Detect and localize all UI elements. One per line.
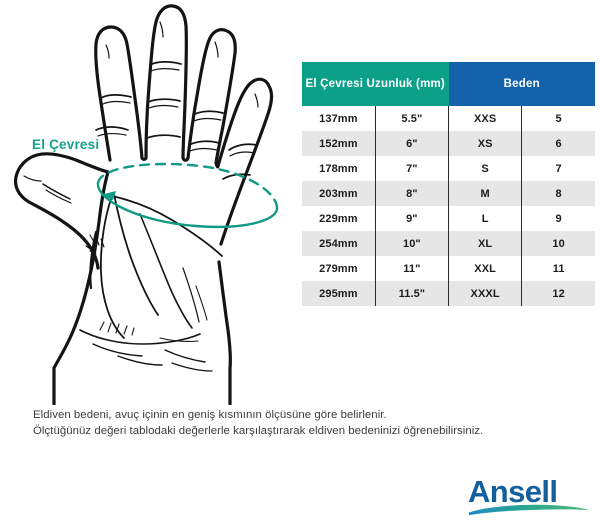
table-row: 254mm 10" XL 10 <box>302 231 595 256</box>
cell-circumference-inch: 7" <box>375 156 448 181</box>
table-row: 178mm 7" S 7 <box>302 156 595 181</box>
cell-size-number: 9 <box>522 206 595 231</box>
cell-size-number: 10 <box>522 231 595 256</box>
ansell-wordmark: Ansell <box>468 474 557 509</box>
table-row: 229mm 9" L 9 <box>302 206 595 231</box>
cell-size-number: 7 <box>522 156 595 181</box>
cell-circumference-mm: 229mm <box>302 206 375 231</box>
cell-size-letter: XL <box>449 231 522 256</box>
cell-size-letter: M <box>449 181 522 206</box>
ansell-logo: Ansell <box>466 472 594 518</box>
cell-circumference-inch: 11" <box>375 256 448 281</box>
cell-circumference-inch: 6" <box>375 131 448 156</box>
cell-size-number: 12 <box>522 281 595 306</box>
cell-circumference-mm: 279mm <box>302 256 375 281</box>
cell-size-letter: L <box>449 206 522 231</box>
cell-circumference-inch: 10" <box>375 231 448 256</box>
instructions-text: Eldiven bedeni, avuç içinin en geniş kıs… <box>33 407 573 439</box>
cell-circumference-inch: 9" <box>375 206 448 231</box>
instructions-line-2: Ölçtüğünüz değeri tablodaki değerlerle k… <box>33 423 573 439</box>
table-row: 203mm 8" M 8 <box>302 181 595 206</box>
table-row: 295mm 11.5" XXXL 12 <box>302 281 595 306</box>
cell-size-number: 8 <box>522 181 595 206</box>
cell-circumference-mm: 178mm <box>302 156 375 181</box>
cell-size-number: 11 <box>522 256 595 281</box>
cell-size-letter: XS <box>449 131 522 156</box>
cell-size-letter: XXS <box>449 106 522 131</box>
cell-circumference-mm: 254mm <box>302 231 375 256</box>
cell-circumference-inch: 8" <box>375 181 448 206</box>
cell-circumference-inch: 11.5" <box>375 281 448 306</box>
header-size: Beden <box>449 62 596 106</box>
table-header-row: El Çevresi Uzunluk (mm) Beden <box>302 62 595 106</box>
glove-size-chart-page: El Çevresi El Çevresi Uzunluk (mm) Beden… <box>0 0 600 526</box>
cell-size-number: 5 <box>522 106 595 131</box>
cell-size-letter: XXL <box>449 256 522 281</box>
cell-size-letter: XXXL <box>449 281 522 306</box>
cell-size-letter: S <box>449 156 522 181</box>
header-hand-circumference: El Çevresi Uzunluk (mm) <box>302 62 449 106</box>
cell-circumference-mm: 152mm <box>302 131 375 156</box>
cell-size-number: 6 <box>522 131 595 156</box>
hand-illustration <box>0 0 300 405</box>
glove-size-table: El Çevresi Uzunluk (mm) Beden 137mm 5.5"… <box>302 62 595 306</box>
cell-circumference-mm: 203mm <box>302 181 375 206</box>
cell-circumference-inch: 5.5" <box>375 106 448 131</box>
cell-circumference-mm: 295mm <box>302 281 375 306</box>
table-row: 137mm 5.5" XXS 5 <box>302 106 595 131</box>
hand-circumference-label: El Çevresi <box>32 137 99 152</box>
table-row: 152mm 6" XS 6 <box>302 131 595 156</box>
instructions-line-1: Eldiven bedeni, avuç içinin en geniş kıs… <box>33 407 573 423</box>
table-row: 279mm 11" XXL 11 <box>302 256 595 281</box>
cell-circumference-mm: 137mm <box>302 106 375 131</box>
